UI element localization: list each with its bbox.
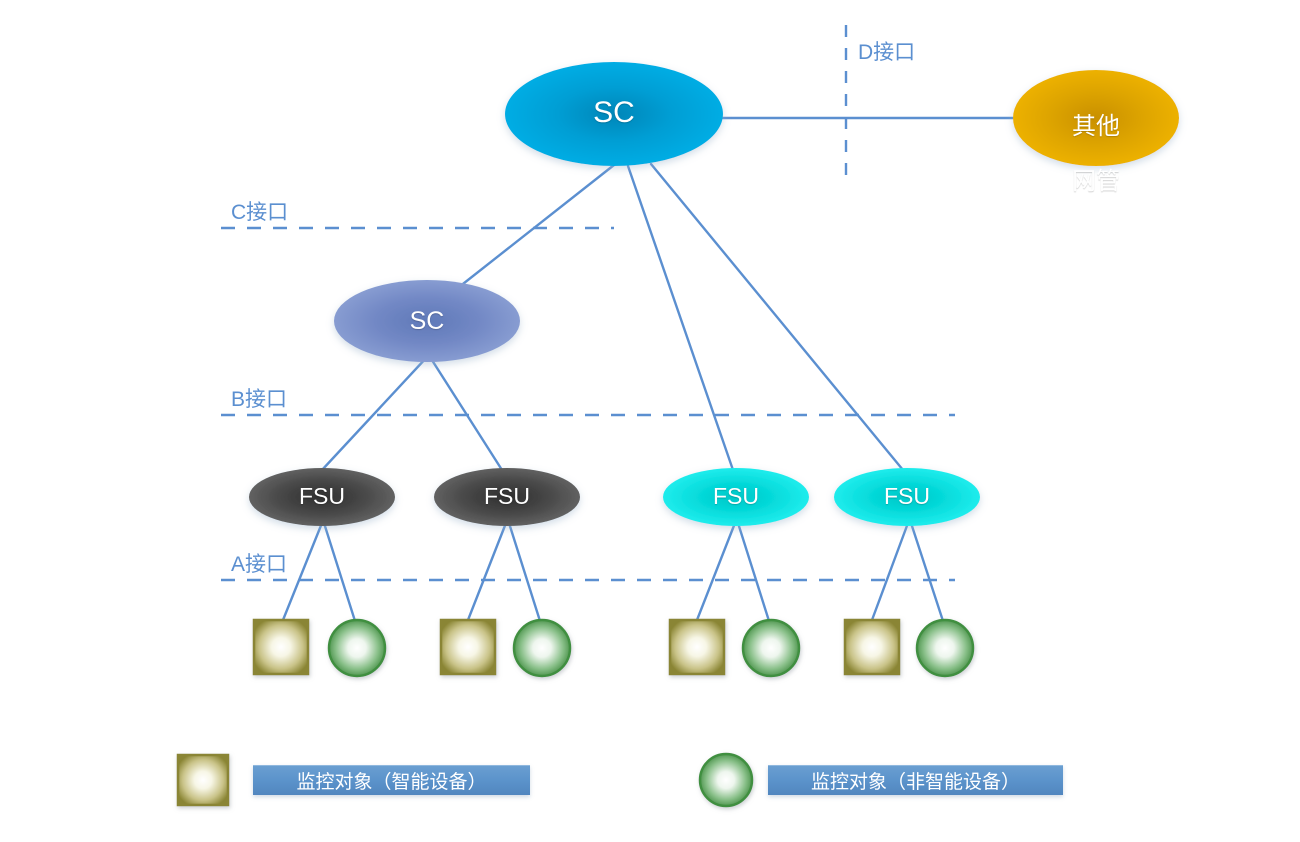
nonsmart-device-circle-icon-2[interactable] <box>514 620 570 676</box>
smart-device-square-icon-4[interactable] <box>845 620 899 674</box>
node-layer <box>0 0 1300 842</box>
legend-label-smart-device: 监控对象（智能设备） <box>253 765 530 795</box>
legend-label-nonsmart-device: 监控对象（非智能设备） <box>768 765 1063 795</box>
node-fsu-4[interactable] <box>834 468 980 526</box>
interface-label-c: C接口 <box>231 196 288 226</box>
legend-smart-device-square-icon <box>178 755 228 805</box>
interface-label-d: D接口 <box>858 36 915 66</box>
diagram-canvas: SC SC 其他 网管 FSU FSU FSU FSU D接口 C接口 B接口 … <box>0 0 1300 842</box>
smart-device-square-icon-2[interactable] <box>441 620 495 674</box>
interface-label-a: A接口 <box>231 548 287 578</box>
node-fsu-2[interactable] <box>434 468 580 526</box>
nonsmart-device-circle-icon-3[interactable] <box>743 620 799 676</box>
nonsmart-device-circle-icon-1[interactable] <box>329 620 385 676</box>
node-fsu-1[interactable] <box>249 468 395 526</box>
legend-nonsmart-device-circle-icon <box>700 754 752 806</box>
interface-label-b: B接口 <box>231 383 287 413</box>
nonsmart-device-circle-icon-4[interactable] <box>917 620 973 676</box>
smart-device-square-icon-1[interactable] <box>254 620 308 674</box>
node-fsu-3[interactable] <box>663 468 809 526</box>
node-other-nms[interactable] <box>1013 70 1179 166</box>
smart-device-square-icon-3[interactable] <box>670 620 724 674</box>
node-sc-mid[interactable] <box>334 280 520 362</box>
node-sc-top[interactable] <box>505 62 723 166</box>
